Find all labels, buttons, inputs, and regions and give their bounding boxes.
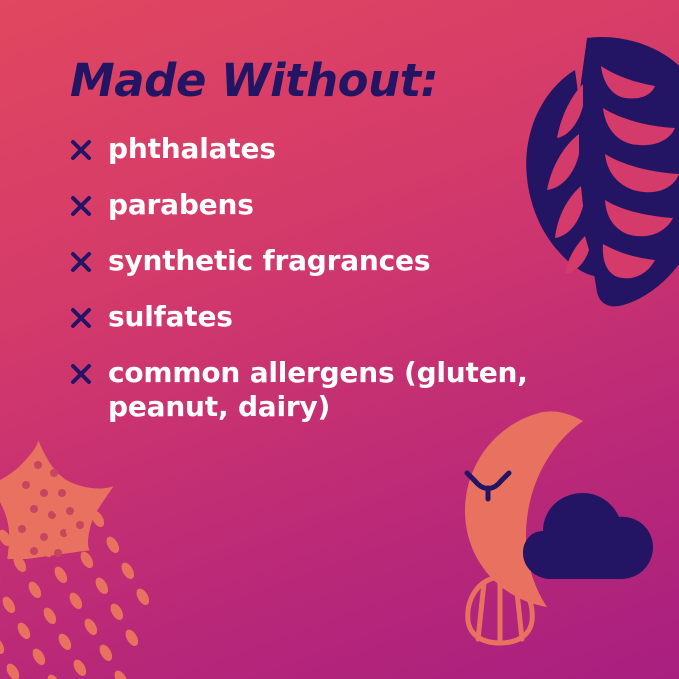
dot-pattern-icon: [0, 489, 190, 679]
seashell-icon: [460, 569, 540, 649]
list-item-label: phthalates: [108, 132, 276, 166]
x-mark-icon: [70, 360, 92, 388]
list-item: synthetic fragrances: [70, 244, 590, 278]
list-item: common allergens (gluten, peanut, dairy): [70, 356, 590, 424]
list-item-label: common allergens (gluten, peanut, dairy): [108, 356, 590, 424]
list-item-label: synthetic fragrances: [108, 244, 430, 278]
x-mark-icon: [70, 136, 92, 164]
list-item: parabens: [70, 188, 590, 222]
list-item-label: sulfates: [108, 300, 233, 334]
x-mark-icon: [70, 192, 92, 220]
list-item-label: parabens: [108, 188, 254, 222]
cloud-icon: [523, 493, 653, 579]
crescent-moon-icon: [439, 409, 669, 609]
made-without-list: phthalates parabens synthetic fragrances…: [70, 132, 590, 425]
page-title: Made Without:: [70, 56, 679, 106]
list-item: phthalates: [70, 132, 590, 166]
poster-content: Made Without: phthalates parabens synthe…: [0, 0, 679, 424]
list-item: sulfates: [70, 300, 590, 334]
x-mark-icon: [70, 304, 92, 332]
starfish-icon: [0, 439, 120, 559]
promo-poster: Made Without: phthalates parabens synthe…: [0, 0, 679, 679]
x-mark-icon: [70, 248, 92, 276]
closed-eye-icon: [467, 473, 509, 499]
